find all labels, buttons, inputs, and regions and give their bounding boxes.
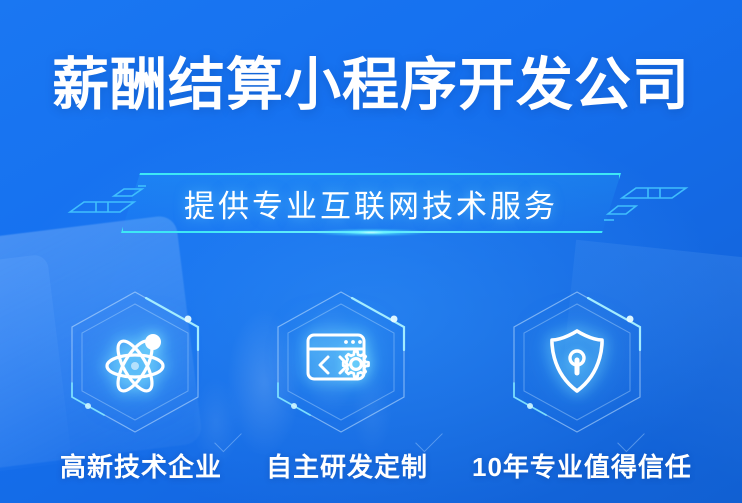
feature-item-high-tech: 高新技术企业 [60,288,210,484]
atom-icon [60,288,210,436]
feature-list: 高新技术企业 [0,288,742,503]
feature-item-rnd: 自主研发定制 [266,288,416,484]
subtitle-text-wrap: 提供专业互联网技术服务 [121,173,621,233]
page-title: 薪酬结算小程序开发公司 [0,50,742,120]
hexagon-frame [266,288,416,436]
subtitle-text: 提供专业互联网技术服务 [184,181,558,226]
shield-lock-icon [502,288,652,436]
code-window-gear-icon [266,288,416,436]
feature-label: 自主研发定制 [266,447,416,484]
hexagon-frame [502,288,652,436]
lens-flare-glow-icon [311,228,431,237]
feature-item-trust: 10年专业值得信任 [472,288,682,484]
feature-label: 高新技术企业 [60,447,210,484]
promo-banner: 薪酬结算小程序开发公司 提供专业互联网技术服务 [0,0,742,503]
subtitle-banner: 提供专业互联网技术服务 [0,170,742,236]
feature-label: 10年专业值得信任 [472,447,682,484]
hexagon-frame [60,288,210,436]
